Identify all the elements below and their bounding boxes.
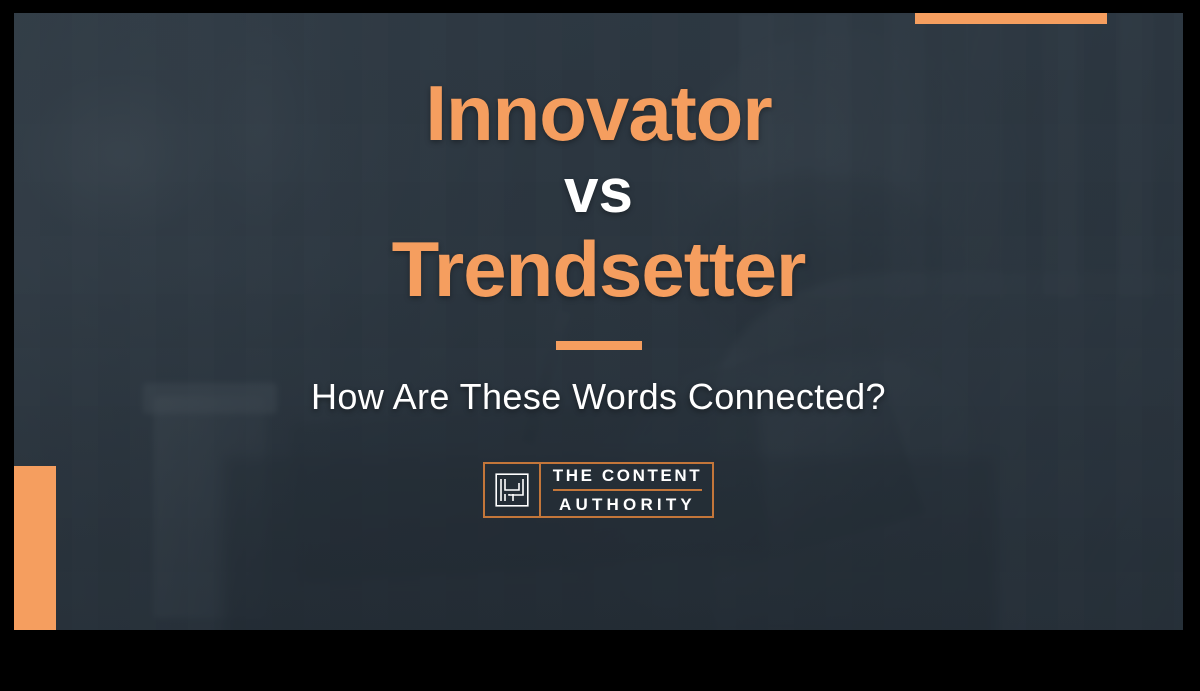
title-word-primary: Innovator: [425, 75, 771, 151]
orange-divider: [556, 341, 642, 350]
title-versus: vs: [564, 159, 633, 224]
orange-accent-bar-top: [915, 13, 1107, 24]
image-frame: Innovator vs Trendsetter How Are These W…: [0, 0, 1200, 691]
photo-canvas: Innovator vs Trendsetter How Are These W…: [14, 13, 1183, 630]
brand-logo-line-two: AUTHORITY: [553, 491, 702, 518]
brand-logo-wordmark: THE CONTENT AUTHORITY: [541, 464, 712, 516]
title-word-secondary: Trendsetter: [392, 231, 806, 307]
brand-logo[interactable]: THE CONTENT AUTHORITY: [483, 462, 714, 518]
maze-square-icon: [485, 464, 541, 516]
brand-logo-line-one: THE CONTENT: [553, 462, 702, 491]
content-stack: Innovator vs Trendsetter How Are These W…: [14, 13, 1183, 630]
subtitle-text: How Are These Words Connected?: [311, 376, 886, 418]
orange-accent-bar-left: [14, 466, 56, 630]
